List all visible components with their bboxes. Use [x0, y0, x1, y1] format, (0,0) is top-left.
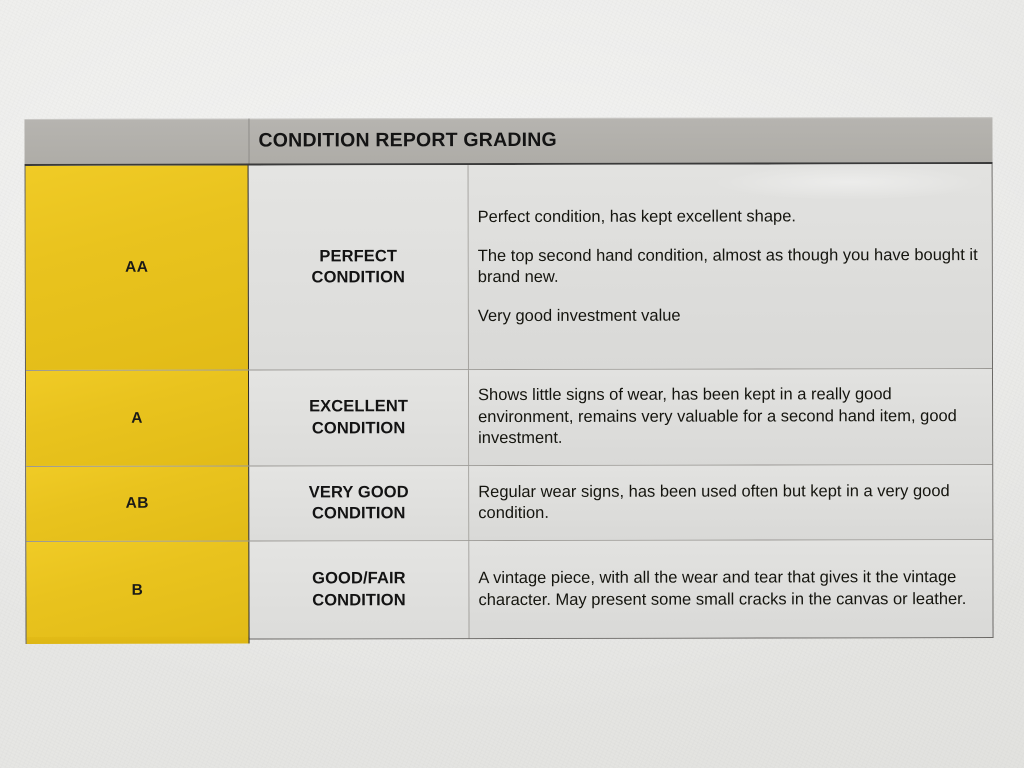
description-paragraph: The top second hand condition, almost as…: [478, 245, 978, 289]
table-body: AA PERFECT CONDITION Perfect condition, …: [25, 164, 994, 640]
description-paragraph: Regular wear signs, has been used often …: [478, 481, 978, 525]
grade-label-cell: EXCELLENT CONDITION: [249, 370, 469, 465]
description-paragraph: Perfect condition, has kept excellent sh…: [478, 206, 978, 228]
grade-label-line-2: CONDITION: [309, 503, 409, 524]
grade-code-cell: B: [26, 542, 249, 639]
table-header-band: CONDITION REPORT GRADING: [24, 117, 992, 166]
grade-label-line-1: EXCELLENT: [309, 397, 408, 418]
table-header-left-spacer: [24, 119, 249, 164]
grade-description-cell: Shows little signs of wear, has been kep…: [469, 369, 992, 465]
grade-code-cell: AB: [26, 467, 249, 541]
grade-label-line-1: VERY GOOD: [309, 482, 409, 503]
condition-report-grading-table: CONDITION REPORT GRADING AA PERFECT COND…: [24, 117, 993, 640]
table-row: B GOOD/FAIR CONDITION A vintage piece, w…: [26, 540, 992, 639]
grade-label-line-2: CONDITION: [312, 267, 406, 288]
table-row: A EXCELLENT CONDITION Shows little signs…: [26, 369, 992, 467]
grade-code-cell: A: [26, 371, 249, 466]
grade-label-line-1: PERFECT: [311, 246, 405, 267]
page-title: CONDITION REPORT GRADING: [249, 129, 556, 153]
grade-label-cell: GOOD/FAIR CONDITION: [249, 541, 469, 638]
grade-column-bottom-edge: [26, 637, 250, 644]
grade-label-line-1: GOOD/FAIR: [312, 569, 406, 590]
table-row: AA PERFECT CONDITION Perfect condition, …: [26, 164, 992, 371]
grade-description-cell: Perfect condition, has kept excellent sh…: [469, 164, 992, 369]
description-paragraph: A vintage piece, with all the wear and t…: [478, 567, 978, 611]
grade-label-cell: VERY GOOD CONDITION: [249, 466, 469, 540]
grade-code-cell: AA: [26, 166, 249, 370]
grade-description-cell: Regular wear signs, has been used often …: [469, 465, 992, 540]
table-row: AB VERY GOOD CONDITION Regular wear sign…: [26, 465, 992, 542]
grade-label-cell: PERFECT CONDITION: [249, 165, 469, 369]
description-paragraph: Shows little signs of wear, has been kep…: [478, 384, 978, 449]
description-paragraph: Very good investment value: [478, 305, 978, 327]
grade-description-cell: A vintage piece, with all the wear and t…: [469, 540, 992, 638]
grade-label-line-2: CONDITION: [312, 590, 406, 611]
grade-label-line-2: CONDITION: [309, 418, 408, 439]
